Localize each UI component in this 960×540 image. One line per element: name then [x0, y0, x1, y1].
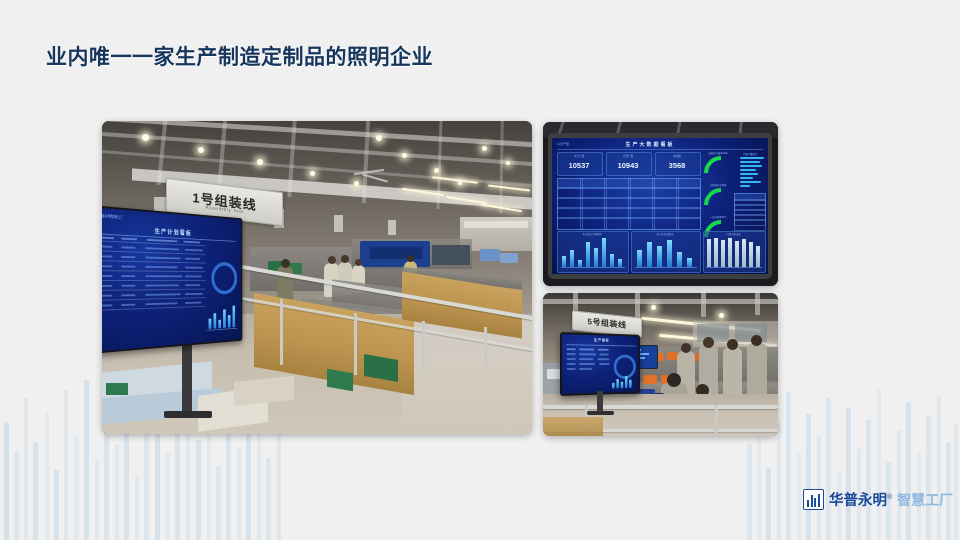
decor-bar: [45, 412, 49, 540]
kpi-label-1: 今日产量: [557, 154, 601, 158]
gauge-oee-label: 设备综合效率OEE: [700, 151, 736, 155]
decor-bar: [747, 444, 752, 540]
production-plan-screen[interactable]: 华普永明智慧工厂 生产计划看板: [102, 205, 242, 354]
decor-bar: [866, 420, 871, 540]
decor-bar: [237, 448, 241, 540]
decor-bar: [74, 436, 79, 540]
assembly-line-sign-2-text: 5号组装线: [573, 314, 641, 332]
decor-bar: [826, 398, 831, 540]
decor-bar: [135, 476, 139, 540]
dashboard-screen[interactable]: 今日产量 生产大数据看板 今日产量 10537 计划产量 10943 在制品 3…: [552, 138, 768, 274]
decor-bar: [906, 402, 911, 540]
decor-bar: [797, 454, 801, 540]
decor-bar: [196, 440, 201, 540]
decor-bar: [246, 420, 251, 540]
page-title: 业内唯一一家生产制造定制品的照明企业: [46, 41, 433, 71]
panel-chart3-label: 月度产能达成: [703, 232, 764, 236]
dashboard-screen-title: 生产大数据看板: [600, 141, 700, 148]
screen-donut-chart: [211, 262, 237, 295]
decor-bar: [24, 398, 28, 540]
kpi-value-3: 3568: [655, 161, 699, 170]
panel-chart2-label: 各工序完成情况: [631, 232, 699, 236]
panel-chart1-label: 各产线日产量趋势: [557, 232, 627, 236]
brand-name: 华普永明®: [829, 489, 892, 510]
decor-bar: [897, 430, 901, 540]
slide-canvas: 业内唯一一家生产制造定制品的照明企业: [0, 0, 960, 540]
decor-bar: [817, 436, 821, 540]
brand-name-text: 华普永明: [829, 493, 887, 509]
decor-bar: [64, 390, 68, 540]
decor-bar: [766, 468, 771, 540]
decor-bar: [786, 392, 791, 540]
decor-bar: [14, 452, 19, 540]
kpi-value-2: 10943: [606, 161, 650, 170]
decor-bar: [266, 458, 271, 540]
decor-bar: [4, 422, 9, 540]
dashboard-screen-logo: 今日产量: [557, 142, 569, 146]
decor-bar: [115, 444, 119, 540]
decor-bar: [33, 442, 38, 540]
photo-production-dashboard[interactable]: 今日产量 生产大数据看板 今日产量 10537 计划产量 10943 在制品 3…: [543, 122, 778, 286]
decor-bar: [937, 396, 941, 540]
brand-tagline: 智慧工厂: [897, 490, 953, 510]
kpi-label-2: 计划产量: [606, 154, 650, 158]
panel-ranking-label: 产线产量排行: [734, 152, 766, 156]
decor-bar: [95, 460, 99, 540]
decor-bar: [926, 416, 931, 540]
kpi-value-1: 10537: [557, 161, 601, 170]
bar-chart-square-icon: [803, 489, 824, 510]
line-board-screen[interactable]: 生产看板: [560, 332, 640, 396]
gauge-otd-label: 订单准时交付率: [700, 183, 736, 187]
kpi-label-3: 在制品: [655, 154, 699, 158]
decor-bar: [124, 422, 129, 540]
decor-bar: [166, 452, 170, 540]
footer-brand-logo: 华普永明® 智慧工厂: [803, 489, 953, 510]
decor-bar: [216, 466, 221, 540]
brand-registered-mark: ®: [887, 494, 892, 501]
decor-bar: [806, 414, 811, 540]
decor-bar: [777, 422, 781, 540]
gauge-fpy-label: 一次合格率FPY: [700, 215, 736, 219]
photo-main-assembly-line[interactable]: 1号组装线 Assembly line 华普永明智慧工厂 生产计划看板: [102, 121, 532, 434]
decor-bar: [54, 470, 59, 540]
decor-bar: [846, 408, 851, 540]
decor-bar: [84, 380, 89, 540]
decor-bar: [877, 390, 881, 540]
decor-bar: [954, 424, 958, 540]
photo-assembly-line-workers[interactable]: 5号组装线 生产看板: [543, 293, 778, 436]
